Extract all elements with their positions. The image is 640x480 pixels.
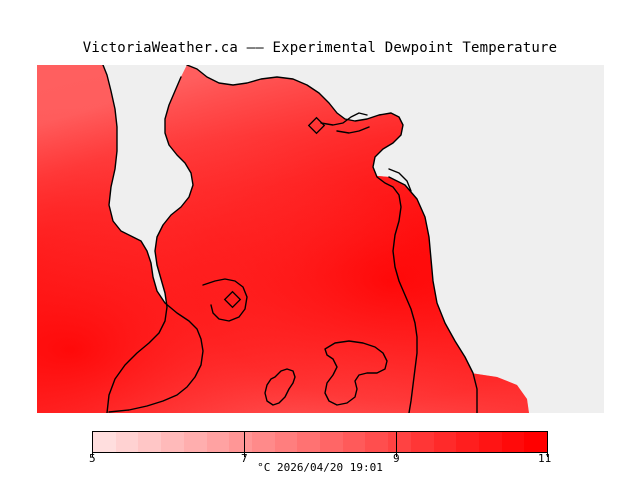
colorbar-band-11 bbox=[343, 432, 366, 452]
page-title: VictoriaWeather.ca —— Experimental Dewpo… bbox=[0, 40, 640, 56]
colorbar-band-14 bbox=[411, 432, 434, 452]
temperature-colorbar[interactable] bbox=[92, 431, 548, 453]
colorbar-divider-9 bbox=[396, 431, 397, 453]
colorbar-band-6 bbox=[229, 432, 252, 452]
colorbar-band-18 bbox=[502, 432, 525, 452]
colorbar-band-3 bbox=[161, 432, 184, 452]
dewpoint-temperature-map[interactable] bbox=[37, 65, 604, 413]
colorbar-gradient[interactable] bbox=[92, 431, 548, 453]
map-canvas bbox=[37, 65, 604, 413]
colorbar-band-15 bbox=[434, 432, 457, 452]
colorbar-band-4 bbox=[184, 432, 207, 452]
colorbar-band-2 bbox=[138, 432, 161, 452]
colorbar-band-19 bbox=[524, 432, 547, 452]
colorbar-band-1 bbox=[116, 432, 139, 452]
colorbar-band-0 bbox=[93, 432, 116, 452]
colorbar-band-8 bbox=[275, 432, 298, 452]
colorbar-band-10 bbox=[320, 432, 343, 452]
colorbar-band-9 bbox=[297, 432, 320, 452]
colorbar-band-17 bbox=[479, 432, 502, 452]
colorbar-band-16 bbox=[456, 432, 479, 452]
colorbar-band-5 bbox=[207, 432, 230, 452]
colorbar-band-7 bbox=[252, 432, 275, 452]
colorbar-units-and-timestamp: °C 2026/04/20 19:01 bbox=[0, 461, 640, 474]
colorbar-band-13 bbox=[388, 432, 411, 452]
colorbar-band-12 bbox=[365, 432, 388, 452]
colorbar-divider-7 bbox=[244, 431, 245, 453]
